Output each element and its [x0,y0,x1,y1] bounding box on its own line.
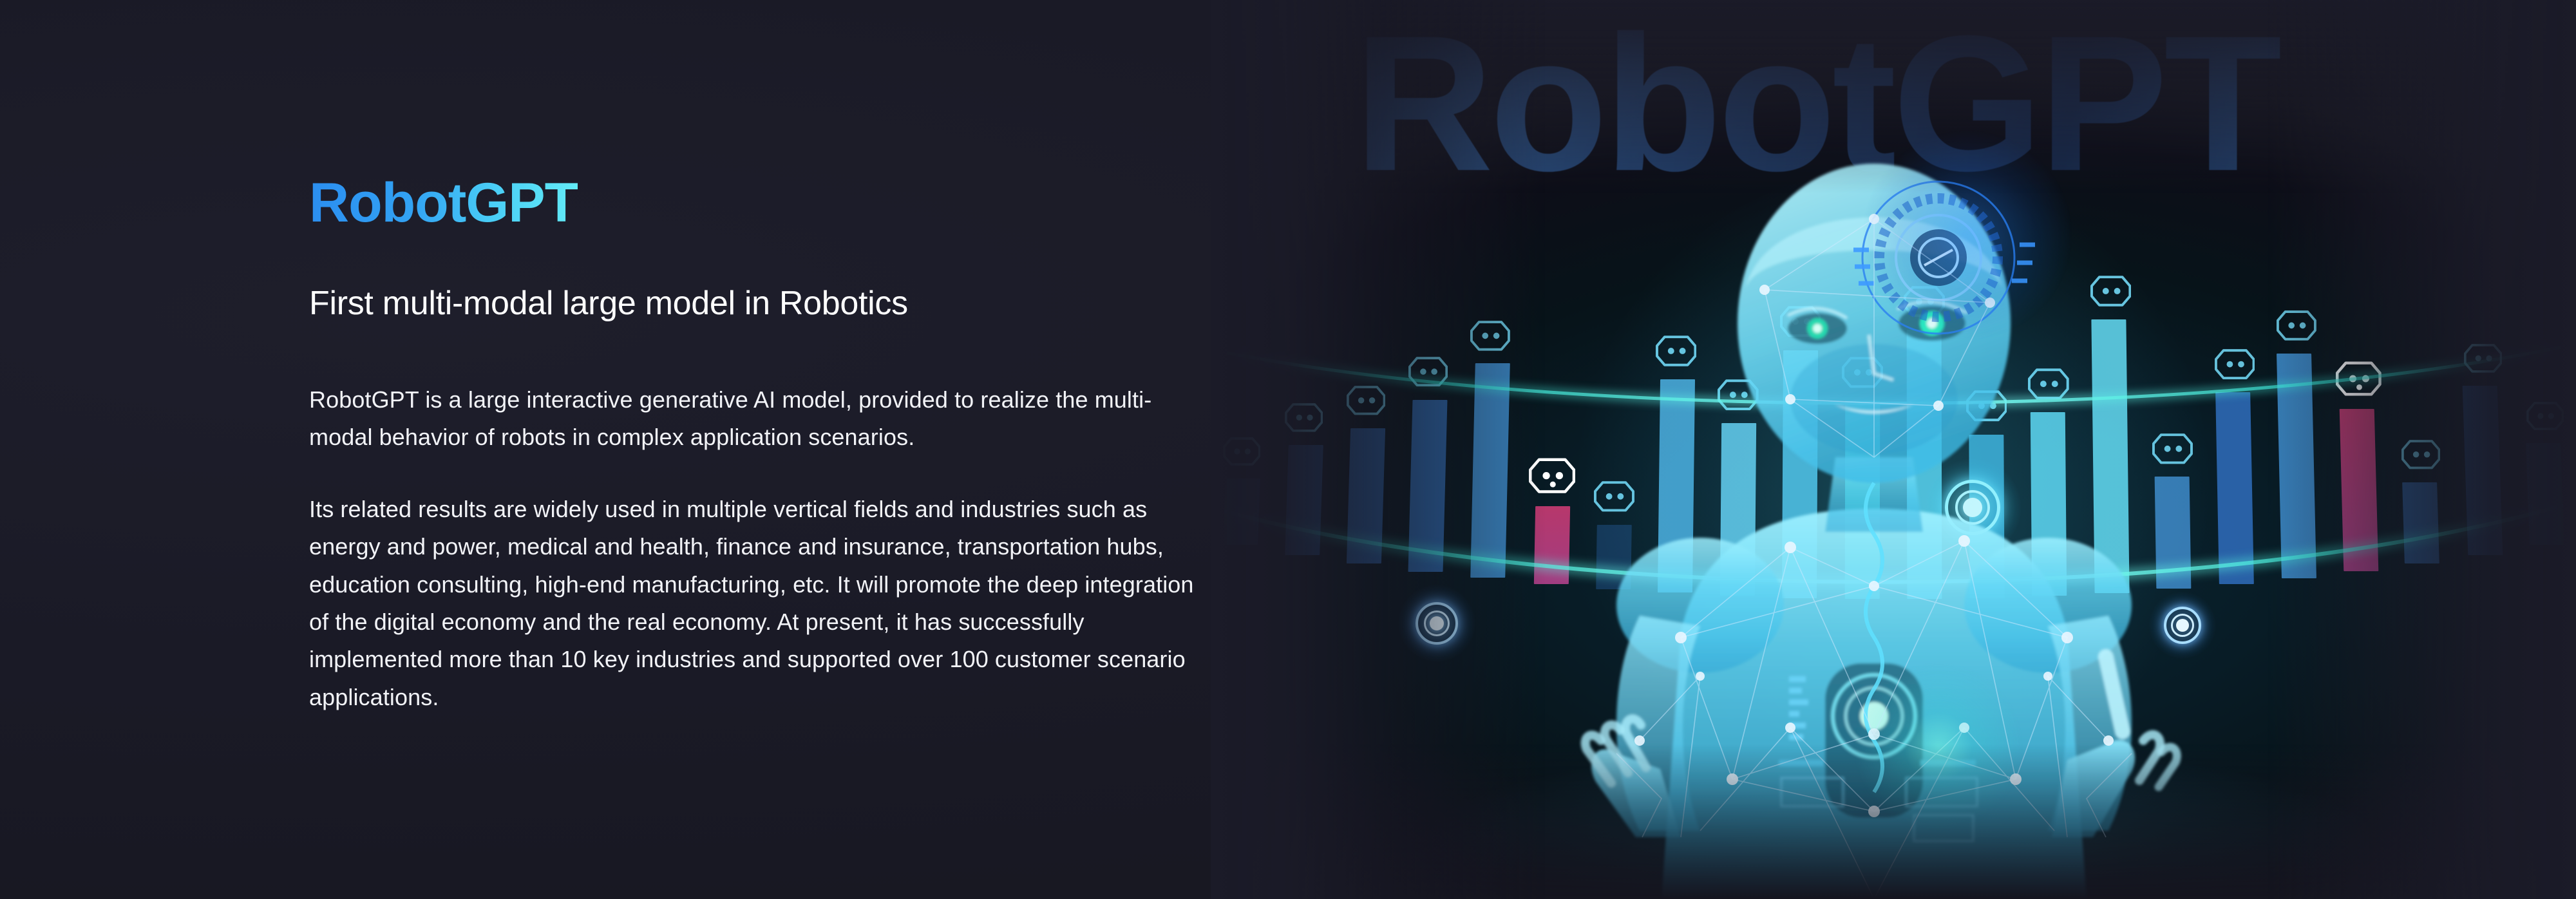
hero-paragraph-1: RobotGPT is a large interactive generati… [309,381,1204,457]
hero-copy: RobotGPT First multi-modal large model i… [309,0,1211,899]
page-title: RobotGPT [309,175,578,231]
illustration-fade-left [1211,0,1546,899]
hero-paragraph-2: Its related results are widely used in m… [309,491,1204,716]
hero-subtitle: First multi-modal large model in Robotic… [309,285,908,322]
illustration-fade-right [2267,0,2576,899]
hero-illustration: RobotGPT [1211,0,2576,899]
hero-banner: RobotGPT [0,0,2576,899]
